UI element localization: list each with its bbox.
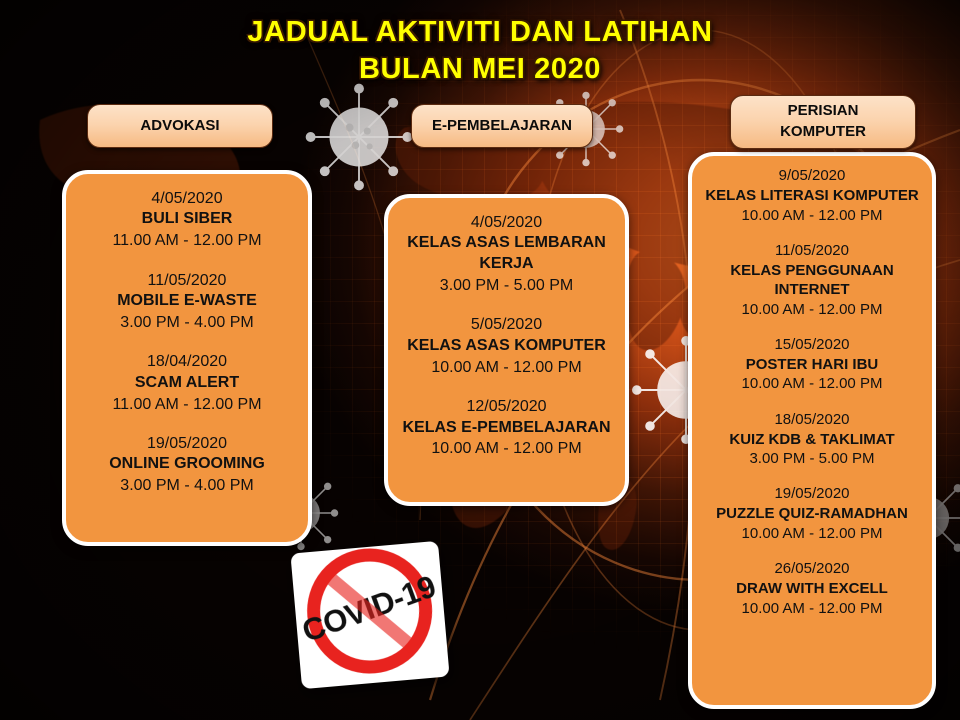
event-date: 19/05/2020	[700, 484, 924, 504]
event-time: 3.00 PM - 4.00 PM	[74, 475, 300, 496]
column-header-label: ADVOKASI	[140, 116, 219, 137]
column-header-label-line2: KOMPUTER	[780, 123, 866, 140]
event-date: 9/05/2020	[700, 166, 924, 186]
event-item: 4/05/2020 KELAS ASAS LEMBARAN KERJA 3.00…	[396, 212, 617, 296]
event-name: ONLINE GROOMING	[74, 454, 300, 475]
event-time: 10.00 AM - 12.00 PM	[700, 206, 924, 226]
event-time: 3.00 PM - 5.00 PM	[700, 449, 924, 469]
event-time: 3.00 PM - 4.00 PM	[74, 312, 300, 333]
event-item: 4/05/2020 BULI SIBER 11.00 AM - 12.00 PM	[74, 188, 300, 252]
event-date: 4/05/2020	[396, 212, 617, 233]
column-header-perisian-komputer[interactable]: PERISIAN KOMPUTER	[730, 95, 916, 149]
poster-canvas: JADUAL AKTIVITI DAN LATIHAN BULAN MEI 20…	[0, 0, 960, 720]
column-header-e-pembelajaran[interactable]: E-PEMBELAJARAN	[411, 104, 593, 148]
event-date: 12/05/2020	[396, 396, 617, 417]
event-name: KELAS ASAS KOMPUTER	[396, 336, 617, 357]
column-header-label-line1: PERISIAN	[788, 102, 859, 119]
column-header-label: E-PEMBELAJARAN	[432, 116, 572, 137]
event-name: KELAS E-PEMBELAJARAN	[396, 418, 617, 439]
event-name: KELAS LITERASI KOMPUTER	[700, 186, 924, 206]
covid-19-prohibition-sign-icon: COVID-19	[288, 539, 452, 692]
title-line-2: BULAN MEI 2020	[0, 51, 960, 88]
schedule-panel-e-pembelajaran: 4/05/2020 KELAS ASAS LEMBARAN KERJA 3.00…	[384, 194, 629, 506]
event-name: POSTER HARI IBU	[700, 355, 924, 375]
event-name: PUZZLE QUIZ-RAMADHAN	[700, 504, 924, 524]
event-date: 18/04/2020	[74, 351, 300, 372]
event-name: BULI SIBER	[74, 209, 300, 230]
event-time: 3.00 PM - 5.00 PM	[396, 275, 617, 296]
schedule-panel-perisian-komputer: 9/05/2020 KELAS LITERASI KOMPUTER 10.00 …	[688, 152, 936, 709]
event-date: 18/05/2020	[700, 410, 924, 430]
event-time: 10.00 AM - 12.00 PM	[700, 374, 924, 394]
event-item: 11/05/2020 KELAS PENGGUNAAN INTERNET 10.…	[700, 241, 924, 320]
event-name: DRAW WITH EXCELL	[700, 579, 924, 599]
event-time: 10.00 AM - 12.00 PM	[700, 599, 924, 619]
event-name: KELAS ASAS LEMBARAN KERJA	[396, 233, 617, 275]
schedule-panel-advokasi: 4/05/2020 BULI SIBER 11.00 AM - 12.00 PM…	[62, 170, 312, 546]
event-item: 18/04/2020 SCAM ALERT 11.00 AM - 12.00 P…	[74, 351, 300, 415]
event-time: 11.00 AM - 12.00 PM	[74, 230, 300, 251]
event-item: 18/05/2020 KUIZ KDB & TAKLIMAT 3.00 PM -…	[700, 410, 924, 470]
event-date: 15/05/2020	[700, 335, 924, 355]
event-item: 19/05/2020 ONLINE GROOMING 3.00 PM - 4.0…	[74, 433, 300, 497]
event-item: 15/05/2020 POSTER HARI IBU 10.00 AM - 12…	[700, 335, 924, 395]
event-name: KELAS PENGGUNAAN INTERNET	[700, 261, 924, 300]
column-header-label: PERISIAN KOMPUTER	[780, 101, 866, 142]
event-date: 4/05/2020	[74, 188, 300, 209]
event-time: 10.00 AM - 12.00 PM	[700, 300, 924, 320]
event-item: 19/05/2020 PUZZLE QUIZ-RAMADHAN 10.00 AM…	[700, 484, 924, 544]
event-name: KUIZ KDB & TAKLIMAT	[700, 430, 924, 450]
title-line-1: JADUAL AKTIVITI DAN LATIHAN	[0, 14, 960, 51]
event-time: 10.00 AM - 12.00 PM	[396, 438, 617, 459]
event-item: 11/05/2020 MOBILE E-WASTE 3.00 PM - 4.00…	[74, 270, 300, 334]
event-item: 26/05/2020 DRAW WITH EXCELL 10.00 AM - 1…	[700, 559, 924, 619]
poster-title: JADUAL AKTIVITI DAN LATIHAN BULAN MEI 20…	[0, 14, 960, 88]
event-time: 10.00 AM - 12.00 PM	[700, 524, 924, 544]
event-item: 5/05/2020 KELAS ASAS KOMPUTER 10.00 AM -…	[396, 314, 617, 378]
event-date: 26/05/2020	[700, 559, 924, 579]
event-date: 11/05/2020	[74, 270, 300, 291]
event-name: SCAM ALERT	[74, 373, 300, 394]
event-time: 11.00 AM - 12.00 PM	[74, 394, 300, 415]
event-date: 19/05/2020	[74, 433, 300, 454]
column-header-advokasi[interactable]: ADVOKASI	[87, 104, 273, 148]
event-date: 11/05/2020	[700, 241, 924, 261]
event-item: 12/05/2020 KELAS E-PEMBELAJARAN 10.00 AM…	[396, 396, 617, 460]
event-item: 9/05/2020 KELAS LITERASI KOMPUTER 10.00 …	[700, 166, 924, 226]
event-name: MOBILE E-WASTE	[74, 291, 300, 312]
event-time: 10.00 AM - 12.00 PM	[396, 357, 617, 378]
virus-particle-icon	[300, 78, 418, 196]
event-date: 5/05/2020	[396, 314, 617, 335]
